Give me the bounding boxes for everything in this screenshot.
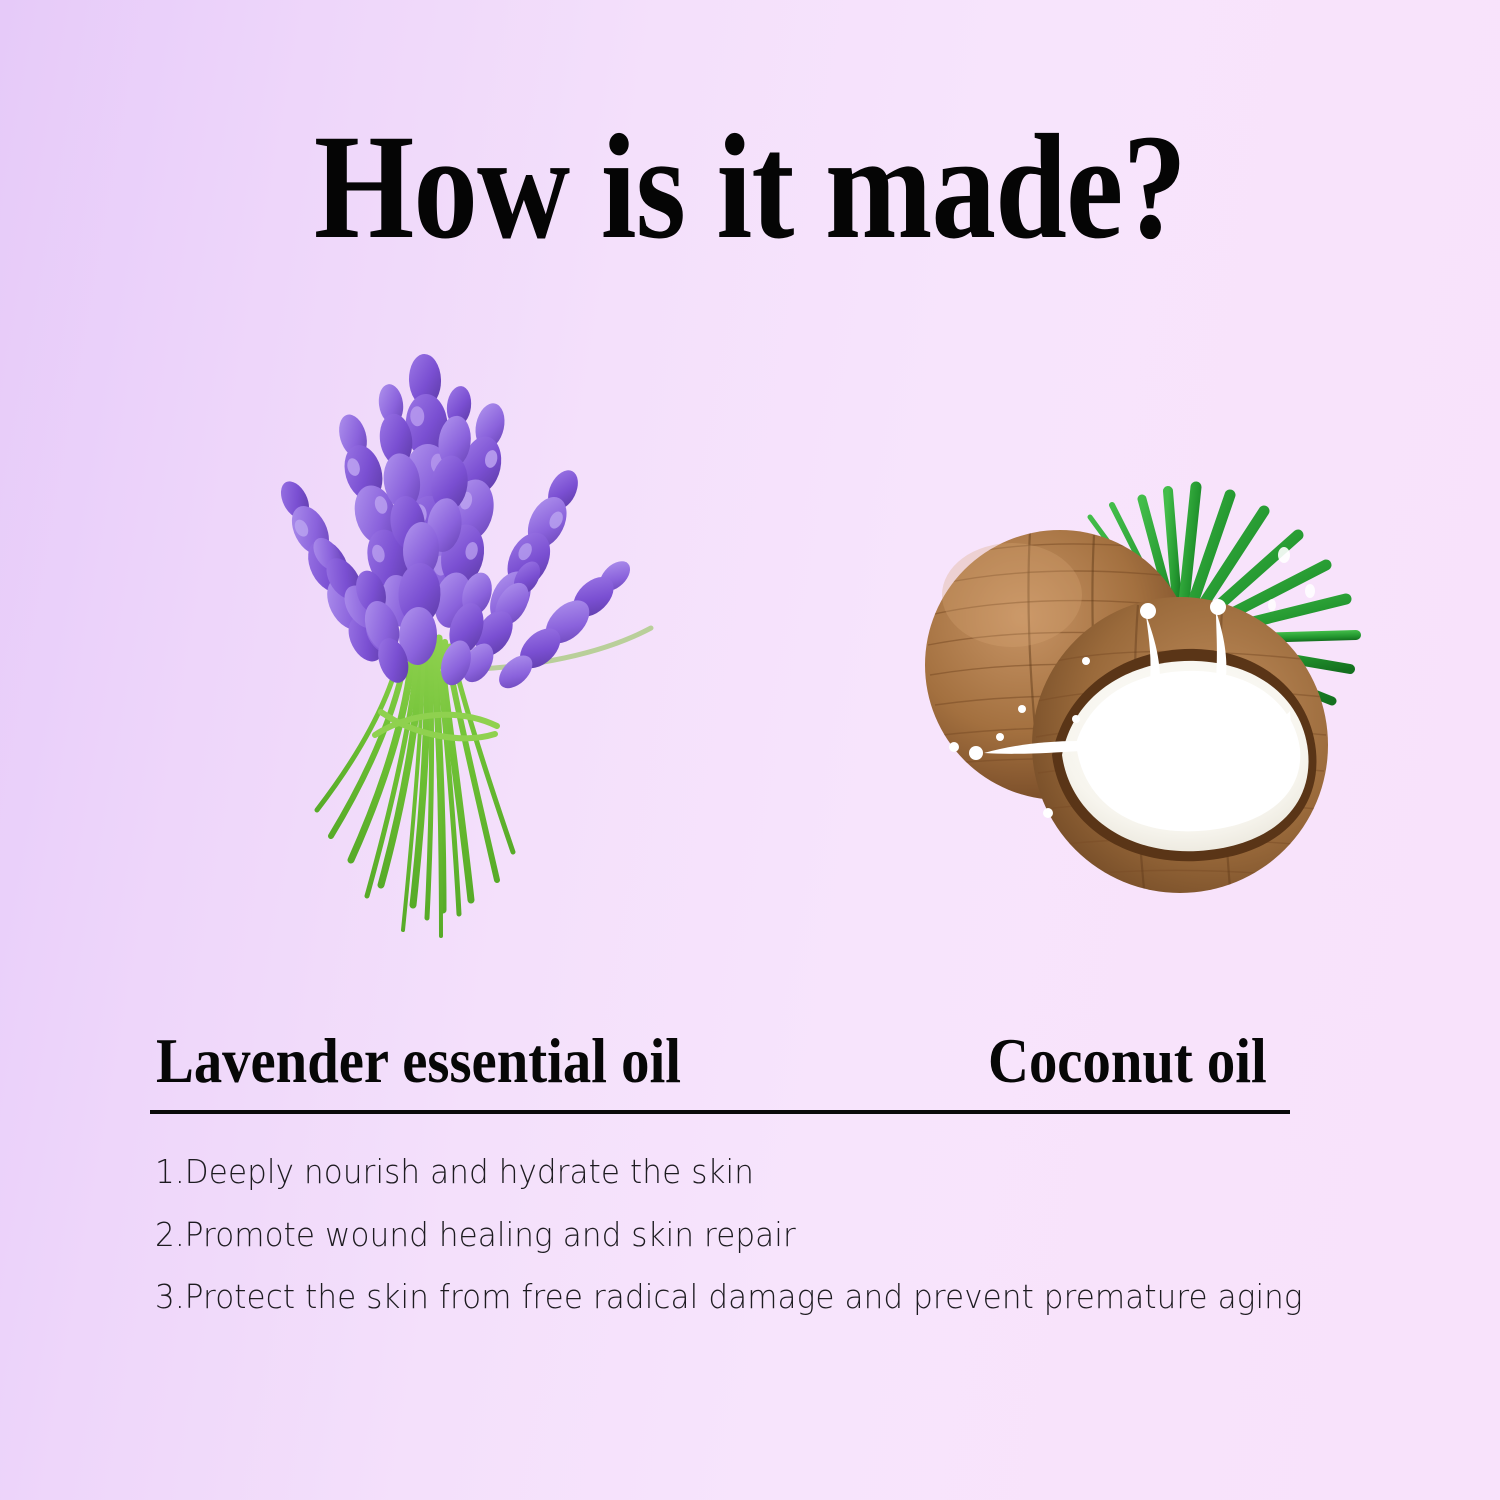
ingredient-label-lavender: Lavender essential oil (156, 1030, 681, 1093)
coconut-half (949, 597, 1328, 893)
list-item: 3.Protect the skin from free radical dam… (155, 1280, 1283, 1315)
palm-leaf (1090, 487, 1356, 727)
coconut-image (880, 465, 1370, 935)
page-title: How is it made? (105, 112, 1395, 262)
product-info-poster: How is it made? (0, 0, 1500, 1500)
list-item: 1.Deeply nourish and hydrate the skin (155, 1155, 1283, 1190)
coconut-whole (925, 530, 1195, 800)
lavender-bouquet-image (175, 340, 675, 1000)
list-item: 2.Promote wound healing and skin repair (155, 1218, 1283, 1253)
ingredient-label-coconut: Coconut oil (988, 1030, 1267, 1093)
section-divider (150, 1110, 1290, 1114)
benefits-list: 1.Deeply nourish and hydrate the skin 2.… (155, 1155, 1355, 1315)
